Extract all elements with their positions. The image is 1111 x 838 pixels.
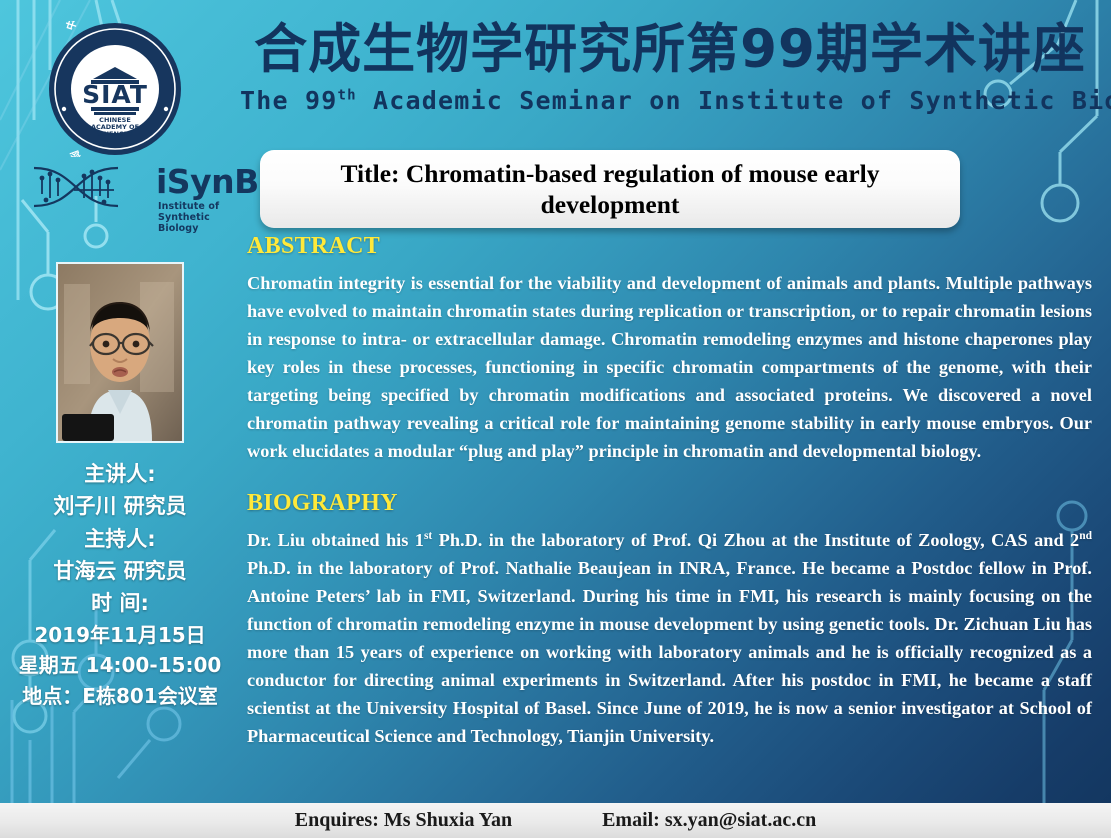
footer-bar: Enquires: Ms Shuxia Yan Email: sx.yan@si… (0, 803, 1111, 838)
seminar-title-en-pre: The 99 (240, 86, 338, 115)
poster-canvas: 中 国 科 学 院 院究研术技进先圳深 SIAT CHINESE ACADEMY… (0, 0, 1111, 838)
speaker-label: 主讲人: (0, 458, 240, 490)
abstract-heading: ABSTRACT (247, 233, 1092, 260)
bio-sup-1: st (424, 529, 432, 541)
seminar-title-en-sup: th (338, 87, 357, 103)
host-label: 主持人: (0, 523, 240, 555)
time-label: 时 间: (0, 587, 240, 619)
svg-text:SCIENCES: SCIENCES (97, 130, 133, 138)
header-text-block: 合成生物学研究所第99期学术讲座 The 99th Academic Semin… (240, 22, 1100, 115)
footer-email: Email: sx.yan@siat.ac.cn (602, 809, 816, 832)
event-weekday-time: 星期五 14:00-15:00 (0, 650, 240, 681)
seminar-title-en-post: Academic Seminar on Institute of Synthet… (357, 86, 1111, 115)
speaker-photo (56, 262, 184, 443)
bio-sup-2: nd (1079, 529, 1092, 541)
event-date: 2019年11月15日 (0, 620, 240, 651)
seminar-title-cn: 合成生物学研究所第99期学术讲座 (240, 22, 1100, 78)
biography-heading: BIOGRAPHY (247, 490, 1092, 517)
seminar-title-en: The 99th Academic Seminar on Institute o… (240, 86, 1100, 115)
isynbio-subtitle: Institute of Synthetic Biology (158, 201, 248, 234)
section-gap (247, 466, 1092, 490)
abstract-text: Chromatin integrity is essential for the… (247, 269, 1092, 466)
bio-part-2: Ph.D. in the laboratory of Prof. Qi Zhou… (432, 530, 1079, 550)
speaker-name: 刘子川 研究员 (0, 490, 240, 522)
event-location: 地点：E栋801会议室 (0, 681, 240, 712)
svg-text:SIAT: SIAT (82, 80, 148, 109)
speaker-info-panel: 主讲人: 刘子川 研究员 主持人: 甘海云 研究员 时 间: 2019年11月1… (0, 458, 240, 712)
host-name: 甘海云 研究员 (0, 555, 240, 587)
isynbio-logo: iSynBio Institute of Synthetic Biology (16, 160, 248, 222)
main-content: ABSTRACT Chromatin integrity is essentia… (247, 233, 1092, 750)
talk-title-box: Title: Chromatin-based regulation of mou… (260, 150, 960, 228)
biography-text: Dr. Liu obtained his 1st Ph.D. in the la… (247, 526, 1092, 751)
bio-part-1: Dr. Liu obtained his 1 (247, 530, 424, 550)
bio-part-3: Ph.D. in the laboratory of Prof. Nathali… (247, 558, 1092, 746)
siat-logo: 中 国 科 学 院 院究研术技进先圳深 SIAT CHINESE ACADEMY… (47, 21, 183, 157)
talk-title: Title: Chromatin-based regulation of mou… (286, 158, 934, 220)
footer-enquires: Enquires: Ms Shuxia Yan (295, 809, 512, 832)
